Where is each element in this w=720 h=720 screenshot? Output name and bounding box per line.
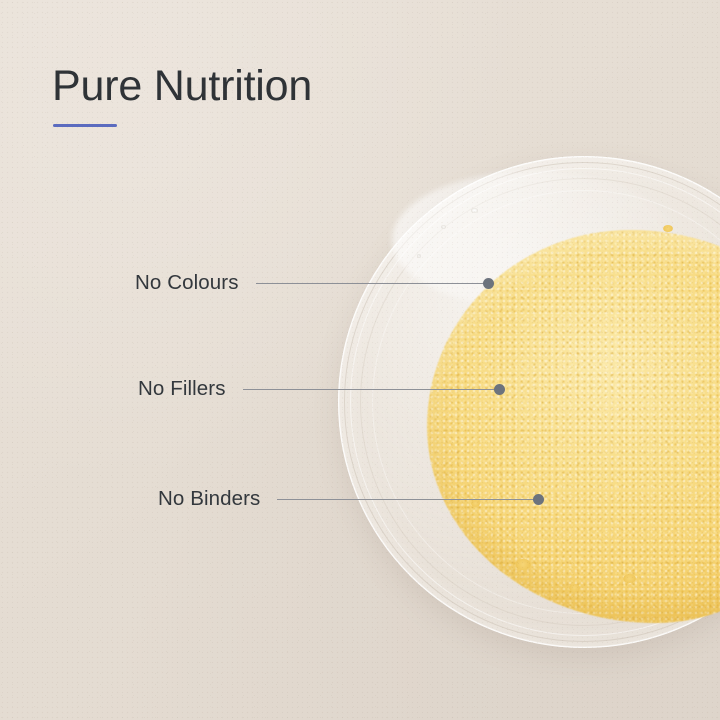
callout-no-colours: No Colours xyxy=(135,270,494,296)
product-infographic: Pure Nutrition No Colours No Fillers No … xyxy=(0,0,720,720)
page-title: Pure Nutrition xyxy=(52,64,312,110)
callout-leader-line xyxy=(243,389,495,390)
callout-label: No Binders xyxy=(158,487,260,511)
powder-scatter xyxy=(663,225,673,232)
callout-dot xyxy=(494,384,505,395)
glass-bubble xyxy=(471,208,478,213)
callout-label: No Colours xyxy=(135,271,239,295)
callout-dot xyxy=(533,494,544,505)
callout-no-fillers: No Fillers xyxy=(138,376,505,402)
callout-leader-line xyxy=(256,283,484,284)
title-accent-rule xyxy=(53,124,117,127)
callout-label: No Fillers xyxy=(138,377,226,401)
callout-dot xyxy=(483,278,494,289)
callout-no-binders: No Binders xyxy=(158,486,544,512)
petri-dish xyxy=(338,156,720,648)
callout-leader-line xyxy=(277,499,534,500)
